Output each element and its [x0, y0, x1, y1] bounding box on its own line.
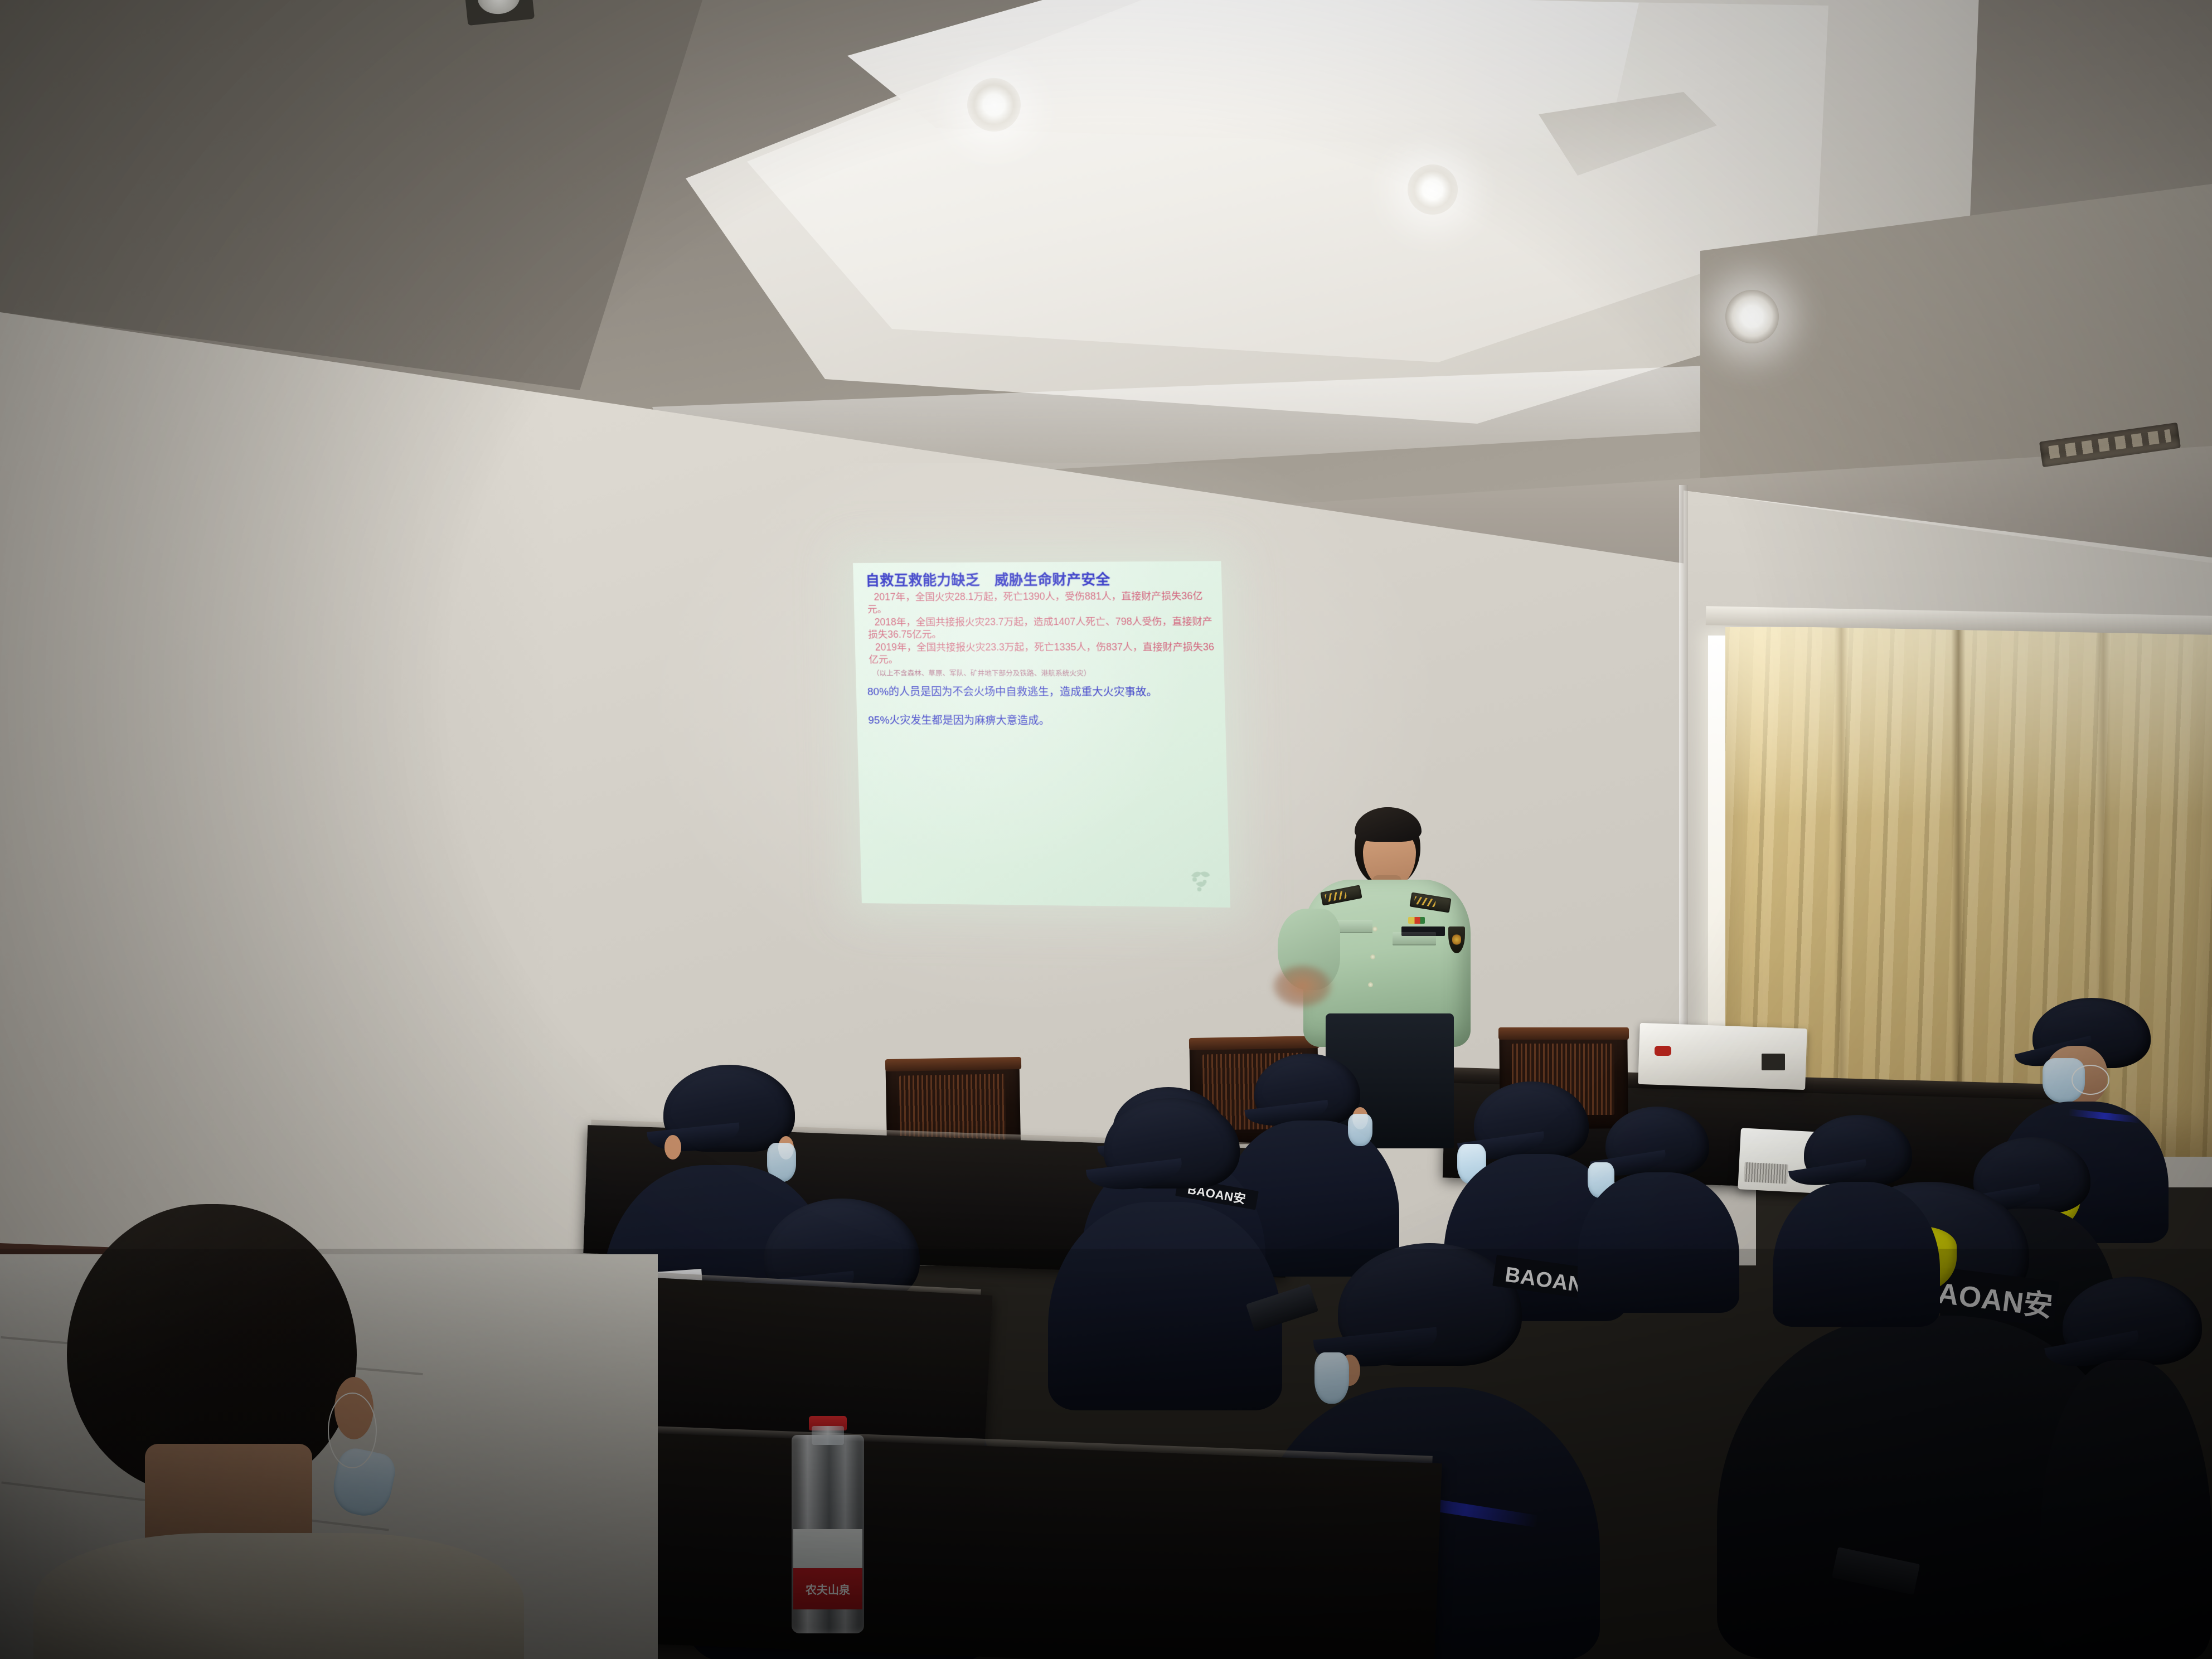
audience-member [1578, 1107, 1739, 1313]
presenter-button [1368, 982, 1373, 987]
presenter-hair-front [1355, 807, 1422, 842]
cap-brim-icon [1086, 1158, 1184, 1195]
curtain-fold [1951, 627, 1966, 1157]
foreground-person [33, 1199, 524, 1659]
audience-member [1048, 1098, 1282, 1410]
meeting-room-photo: 自救互救能力缺乏威胁生命财产安全 2017年，全国火灾28.1万起，死亡1390… [0, 0, 2212, 1659]
presenter-button [1370, 954, 1375, 959]
projected-slide: 自救互救能力缺乏威胁生命财产安全 2017年，全国火灾28.1万起，死亡1390… [853, 561, 1230, 908]
slide-stat-2019: 2019年，全国共接报火灾23.3万起，死亡1335人，伤837人，直接财产损失… [869, 641, 1216, 666]
curtain-fold [1834, 627, 1849, 1157]
presenter-button [1372, 926, 1377, 932]
mask-ear-strap [328, 1393, 377, 1468]
audience-torso [1773, 1182, 1940, 1327]
chair-crest-rail [1498, 1027, 1629, 1040]
water-bottle[interactable]: 农夫山泉 [792, 1416, 864, 1633]
slide-stat-2018: 2018年，全国共接报火灾23.7万起，造成1407人死亡、798人受伤，直接财… [867, 615, 1215, 641]
slide-footnote: （以上不含森林、草原、军队、矿井地下部分及铁路、港航系统火灾） [872, 670, 1216, 678]
slide-title-right: 威胁生命财产安全 [995, 572, 1110, 588]
slide-title: 自救互救能力缺乏威胁生命财产安全 [865, 571, 1214, 589]
ceiling-downlight-icon [1408, 164, 1458, 215]
audience-member [1773, 1115, 1940, 1327]
chair-crest-rail [885, 1057, 1021, 1071]
ceiling-downlight-icon [967, 78, 1021, 132]
presenter-hand [1272, 964, 1332, 1008]
face-mask [1348, 1114, 1372, 1146]
audience-torso [1578, 1172, 1739, 1313]
case-latch [1655, 1046, 1671, 1056]
bottle-label-brand: 农夫山泉 [793, 1568, 863, 1609]
leaf-ornament-icon [1183, 865, 1217, 899]
mask-ear-strap [2072, 1065, 2109, 1095]
case-latch [1762, 1054, 1785, 1070]
front-center-desk [643, 1433, 1442, 1659]
slide-title-left: 自救互救能力缺乏 [865, 573, 980, 589]
presenter-pocket-right [1393, 932, 1436, 945]
slide-emphasis-95: 95%火灾发生都是因为麻痹大意造成。 [868, 714, 1217, 728]
slide-emphasis-80: 80%的人员是因为不会火场中自救逃生，造成重大火灾事故。 [867, 686, 1217, 699]
slide-stat-2017: 2017年，全国火灾28.1万起，死亡1390人，受伤881人，直接财产损失36… [867, 590, 1214, 616]
audience-member [2040, 1277, 2212, 1659]
wall-left-shadow [0, 312, 557, 1260]
ceiling-downlight-icon [1725, 290, 1779, 343]
face-mask [1314, 1352, 1349, 1404]
foreground-torso [33, 1533, 524, 1659]
ear [664, 1135, 681, 1160]
bottle-label-upper [793, 1529, 863, 1573]
presenter-chest-pin [1408, 917, 1425, 924]
audience-torso [2040, 1360, 2212, 1659]
